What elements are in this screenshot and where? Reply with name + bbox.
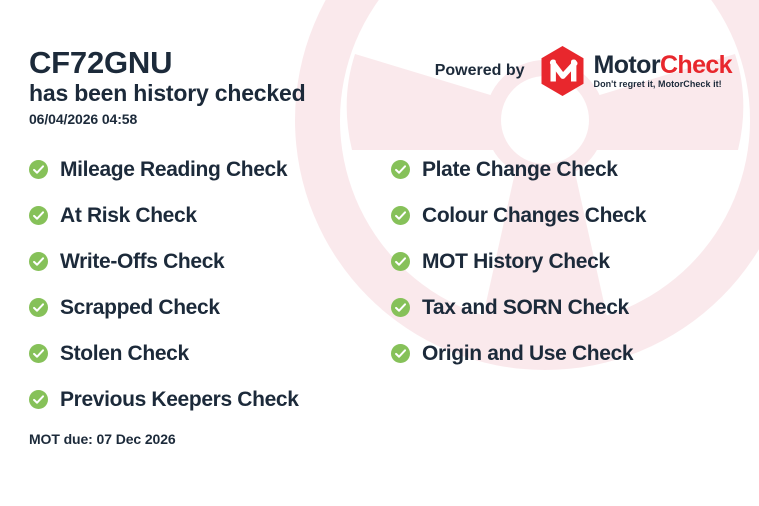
check-item-label: Colour Changes Check [422,205,646,226]
card-header: CF72GNU has been history checked 06/04/2… [0,0,759,140]
check-item: Write-Offs Check [29,238,299,284]
check-item: Colour Changes Check [391,192,646,238]
history-check-card: CF72GNU has been history checked 06/04/2… [0,0,759,506]
check-item: Stolen Check [29,330,299,376]
check-item: MOT History Check [391,238,646,284]
check-item-label: Previous Keepers Check [60,389,299,410]
check-item: Plate Change Check [391,146,646,192]
green-check-circle-icon [391,252,410,271]
page-subtitle: has been history checked [29,79,305,107]
check-item: Previous Keepers Check [29,376,299,422]
green-check-circle-icon [391,344,410,363]
check-item: Origin and Use Check [391,330,646,376]
check-item-label: Plate Change Check [422,159,618,180]
motorcheck-hexagon-check-icon [539,45,586,97]
check-item-label: MOT History Check [422,251,610,272]
wordmark-check: Check [660,51,732,79]
check-item-label: Stolen Check [60,343,189,364]
green-check-circle-icon [29,298,48,317]
check-item: At Risk Check [29,192,299,238]
green-check-circle-icon [29,206,48,225]
motorcheck-wordmark: MotorCheck Don't regret it, MotorCheck i… [594,53,732,89]
wordmark-text: MotorCheck [594,53,732,78]
check-timestamp: 06/04/2026 04:58 [29,111,305,127]
motorcheck-logo[interactable]: MotorCheck Don't regret it, MotorCheck i… [539,45,732,97]
check-item-label: At Risk Check [60,205,197,226]
green-check-circle-icon [391,160,410,179]
green-check-circle-icon [391,206,410,225]
check-item-label: Write-Offs Check [60,251,224,272]
wordmark-motor: Motor [594,51,660,79]
logo-tagline: Don't regret it, MotorCheck it! [594,80,732,89]
green-check-circle-icon [29,344,48,363]
green-check-circle-icon [29,160,48,179]
check-item-label: Origin and Use Check [422,343,633,364]
powered-by-label: Powered by [435,62,525,80]
green-check-circle-icon [29,390,48,409]
check-item: Scrapped Check [29,284,299,330]
mot-due-label: MOT due: 07 Dec 2026 [29,431,176,447]
page-title: CF72GNU [29,46,305,79]
check-item-label: Scrapped Check [60,297,220,318]
vehicle-summary: CF72GNU has been history checked 06/04/2… [29,46,305,127]
green-check-circle-icon [29,252,48,271]
check-item: Mileage Reading Check [29,146,299,192]
checks-right-column: Plate Change CheckColour Changes CheckMO… [391,146,646,376]
green-check-circle-icon [391,298,410,317]
check-item-label: Mileage Reading Check [60,159,287,180]
powered-by-block: Powered by MotorCheck Don't regret it, M… [435,45,732,97]
checks-left-column: Mileage Reading CheckAt Risk CheckWrite-… [29,146,299,422]
check-item: Tax and SORN Check [391,284,646,330]
check-item-label: Tax and SORN Check [422,297,629,318]
